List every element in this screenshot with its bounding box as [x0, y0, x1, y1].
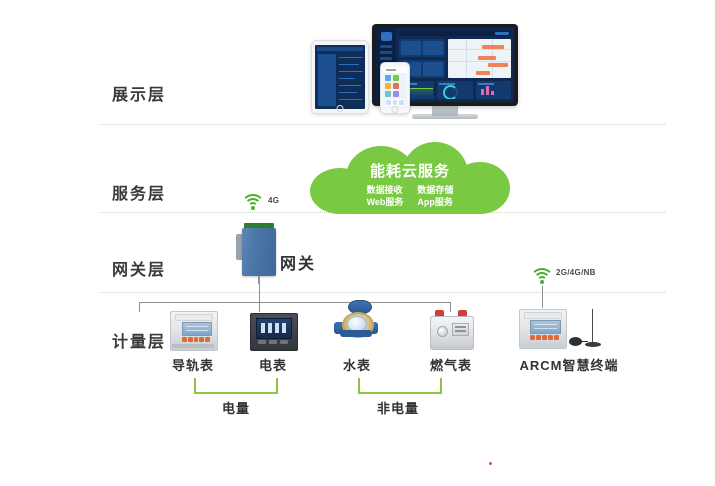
tree-branch-rail [139, 302, 140, 312]
phone-home-button [392, 106, 399, 113]
architecture-diagram: 展示层 服务层 网关层 计量层 [0, 0, 715, 443]
tablet-screen [315, 45, 365, 109]
monitor-topbar [399, 31, 511, 36]
electric-meter-icon [250, 313, 296, 349]
arcm-network-label: 2G/4G/NB [556, 268, 596, 277]
arcm-terminal-icon [519, 309, 609, 349]
arcm-terminal-label: ARCM智慧终端 [514, 355, 624, 374]
cloud-title: 能耗云服务 [310, 160, 510, 181]
water-meter-icon [334, 300, 380, 340]
monitor-content [396, 28, 514, 102]
meter-label-water: 水表 [336, 355, 378, 374]
monitor-widget-row [399, 81, 511, 99]
monitor-map-panel [448, 39, 511, 78]
group-label-electric: 电量 [194, 398, 278, 417]
cloud-feature-app-service: App服务 [417, 196, 453, 208]
gateway-cable-stub [258, 276, 260, 284]
layer-label-gateway: 网关层 [112, 256, 166, 280]
cloud-feature-data-receive: 数据接收 [367, 184, 404, 196]
layer-label-metering: 计量层 [112, 328, 166, 352]
tree-trunk [259, 284, 260, 302]
divider-presentation-service [100, 124, 665, 125]
meter-label-rail: 导轨表 [165, 355, 221, 374]
divider-gateway-metering [100, 292, 665, 293]
wifi-icon-gateway [242, 194, 264, 210]
tablet-home-button [337, 105, 344, 112]
gas-meter-icon [428, 310, 474, 350]
monitor-neck [432, 106, 458, 116]
cloud-feature-data-storage: 数据存储 [417, 184, 453, 196]
phone-screen [383, 67, 407, 109]
bracket-non-electric [358, 378, 442, 394]
wifi-icon-arcm [531, 268, 553, 284]
arcm-uplink-line [542, 286, 543, 308]
cloud-feature-web-service: Web服务 [367, 196, 404, 208]
layer-label-presentation: 展示层 [112, 81, 166, 105]
gateway-network-label: 4G [268, 196, 279, 205]
layer-label-service: 服务层 [112, 180, 166, 204]
rail-meter-icon [170, 311, 216, 349]
tree-bus [139, 302, 450, 303]
cloud-service-node: 能耗云服务 数据接收 Web服务 数据存储 App服务 [310, 142, 510, 214]
bracket-electric [194, 378, 278, 394]
smartphone-icon [380, 62, 410, 114]
meter-label-electric: 电表 [252, 355, 294, 374]
gateway-device-icon [242, 228, 276, 276]
meter-label-gas: 燃气表 [423, 355, 479, 374]
tablet-icon [311, 40, 369, 114]
tree-branch-elec [259, 302, 260, 312]
group-label-non-electric: 非电量 [356, 398, 440, 417]
gateway-label: 网关 [280, 250, 316, 274]
monitor-main-row [399, 39, 511, 78]
